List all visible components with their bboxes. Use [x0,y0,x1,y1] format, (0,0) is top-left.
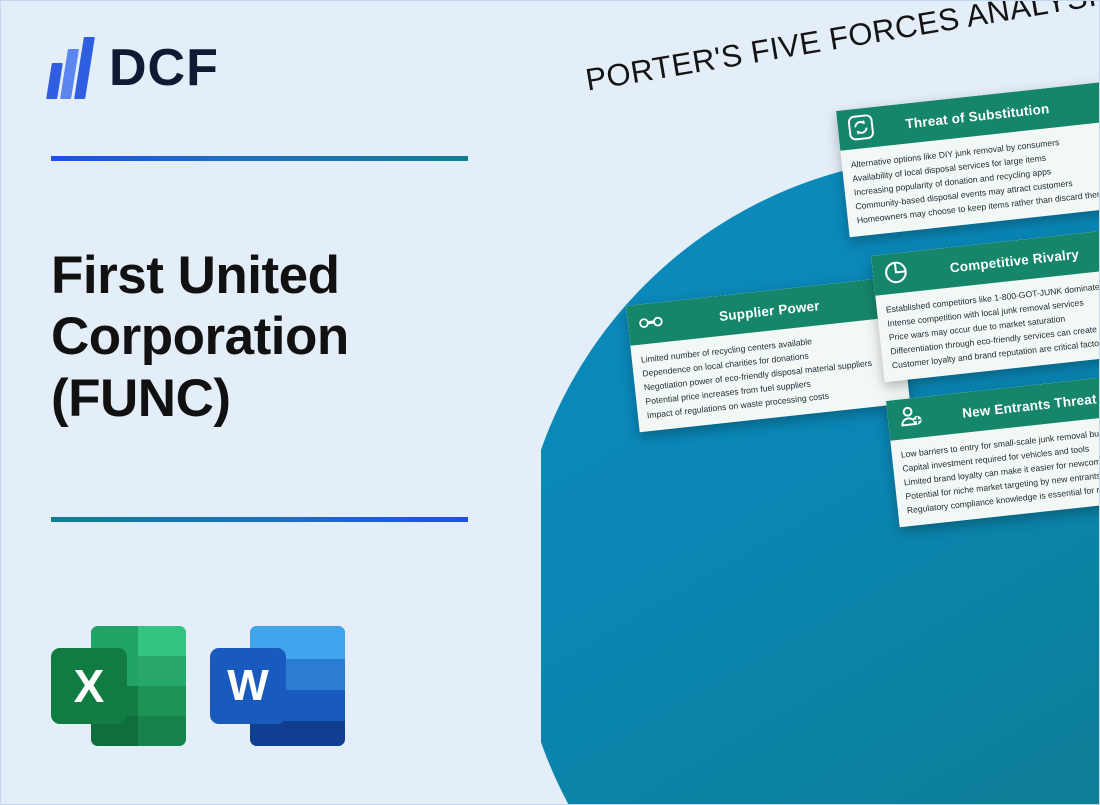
word-file-icon[interactable]: W [208,621,345,751]
refresh-sync-icon [847,113,876,142]
three-bars-icon [49,37,95,99]
page-root: DCF First United Corporation (FUNC) X [0,0,1100,805]
force-card-substitution[interactable]: Threat of Substitution Alternative optio… [836,82,1100,237]
handshake-link-icon [637,308,666,337]
divider-top [51,156,468,161]
excel-file-icon[interactable]: X [49,621,186,751]
word-letter: W [227,664,269,708]
person-add-icon [897,403,926,432]
left-panel: DCF First United Corporation (FUNC) X [1,1,541,805]
dcf-logo-text: DCF [109,42,219,94]
excel-letter-badge: X [51,648,127,724]
excel-letter: X [74,663,105,709]
pie-chart-icon [882,258,911,287]
word-letter-badge: W [210,648,286,724]
infographic-title: PORTER'S FIVE FORCES ANALYSIS [583,1,1100,99]
page-title: First United Corporation (FUNC) [51,245,461,429]
file-icon-group: X W [49,621,345,751]
dcf-logo[interactable]: DCF [49,37,219,99]
divider-bottom [51,517,468,522]
porters-five-forces-infographic: PORTER'S FIVE FORCES ANALYSIS Threat of … [541,1,1100,805]
